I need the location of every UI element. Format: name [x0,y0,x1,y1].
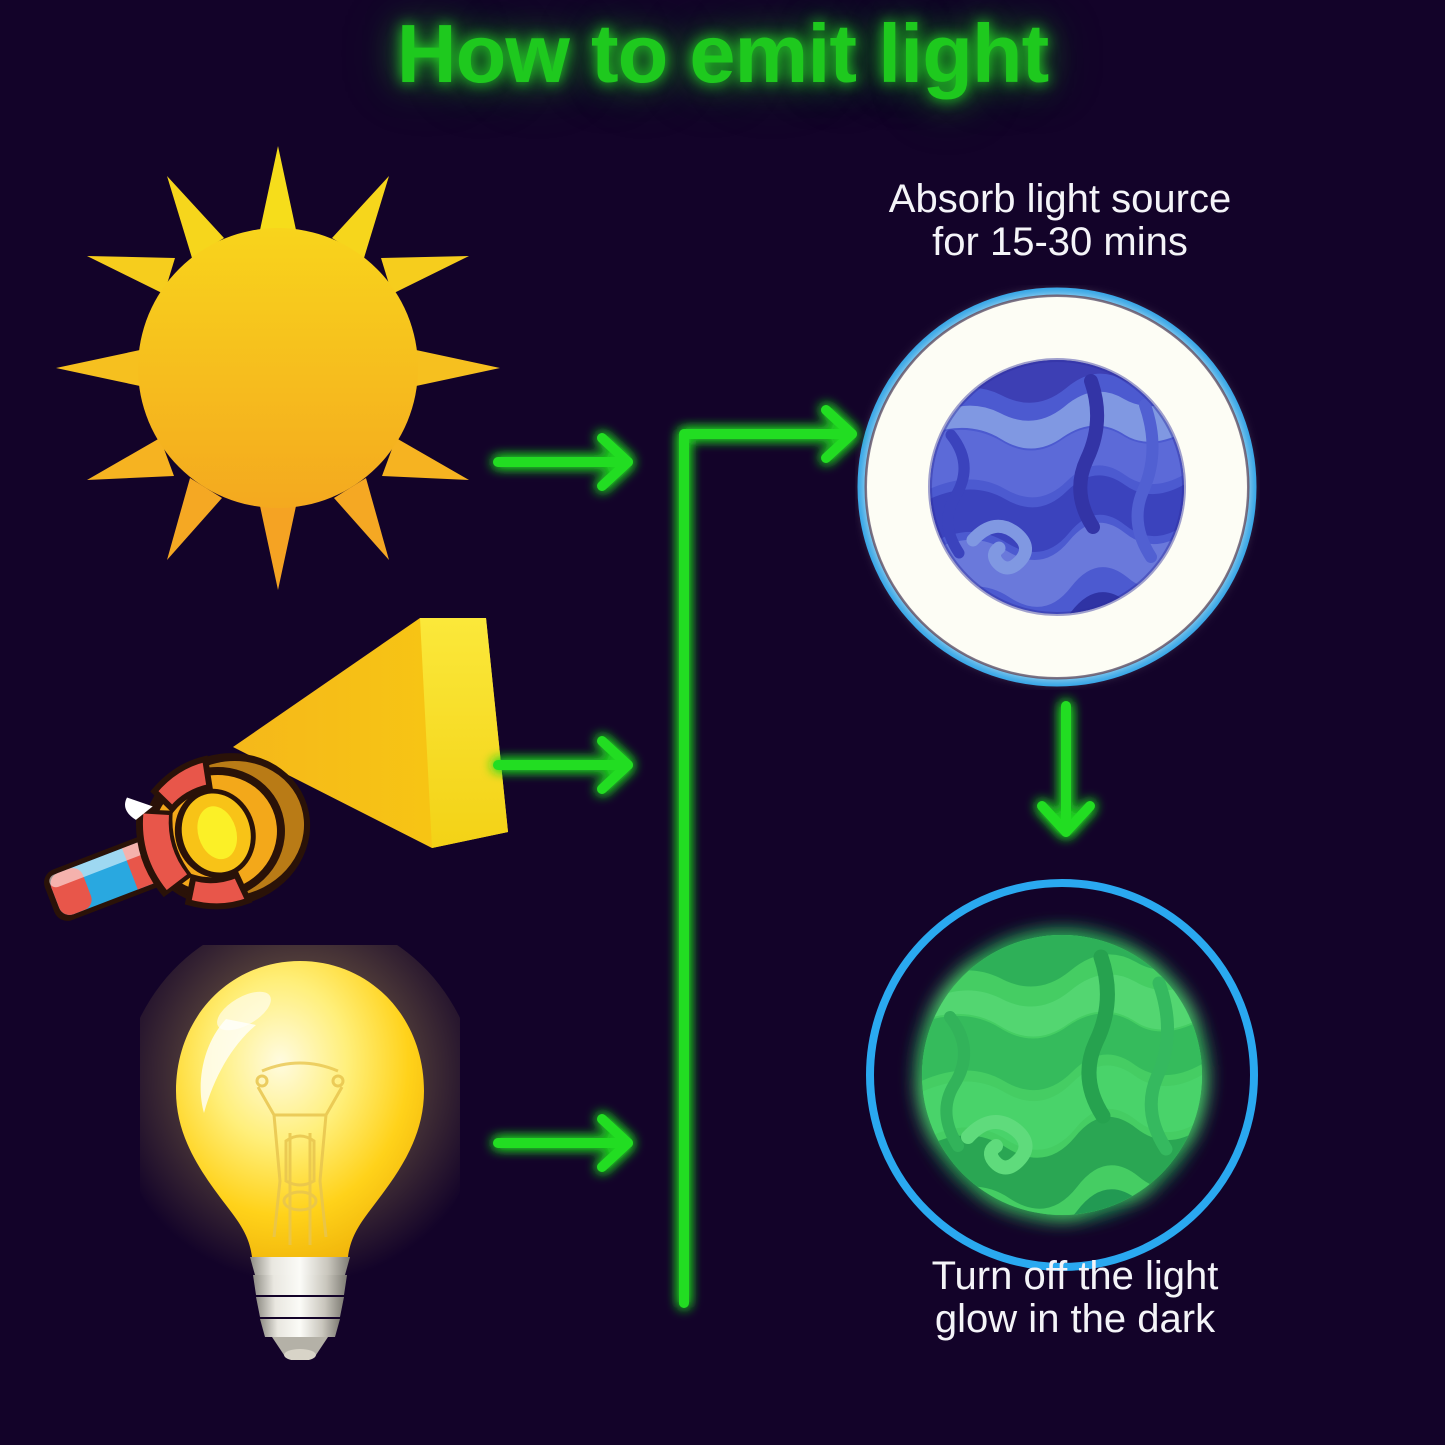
caption-turn-off-the-light: Turn off the light glow in the dark [845,1255,1305,1341]
flashlight-illustration [20,610,520,930]
arrow-bulb-to-bus [498,1119,628,1167]
page-title: How to emit light [0,6,1445,102]
arrow-sun-to-bus [498,438,628,486]
sticker-charged-blue [855,285,1260,690]
collector-bus [684,410,852,1303]
light-bulb-illustration [140,945,460,1360]
sticker-glowing-green [862,875,1262,1275]
infographic-canvas: How to emit light [0,0,1445,1445]
sun-illustration [48,138,508,598]
arrow-blue-to-green [1042,706,1090,832]
caption-absorb-light-source: Absorb light source for 15-30 mins [830,178,1290,264]
